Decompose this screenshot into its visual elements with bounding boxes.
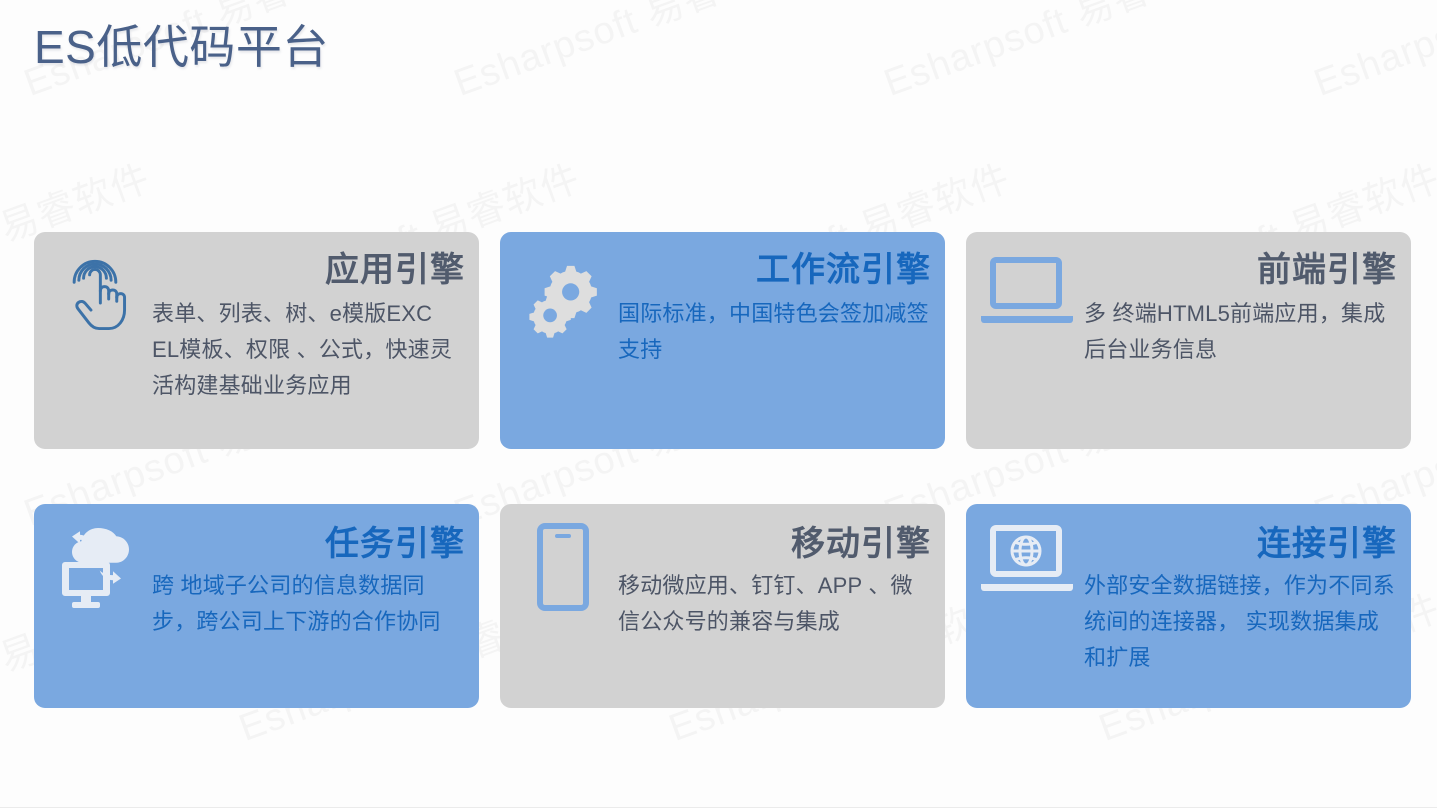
card-title: 连接引擎 (1084, 522, 1397, 566)
card-application-engine[interactable]: 应用引擎 表单、列表、树、e模版EXC EL模板、权限 、公式，快速灵 活构建基… (34, 232, 479, 449)
watermark-text: Esharpsoft 易睿软件 (1305, 0, 1437, 107)
touch-tap-hand-icon (34, 232, 152, 340)
card-description: 移动微应用、钉钉、APP 、微信公众号的兼容与集成 (618, 568, 931, 640)
card-connection-engine[interactable]: 连接引擎 外部安全数据链接，作为不同系统间的连接器， 实现数据集成和扩展 (966, 504, 1411, 708)
watermark-text: Esharpsoft 易睿软件 (875, 792, 1231, 808)
smartphone-icon (500, 504, 618, 612)
gears-icon (500, 232, 618, 340)
cloud-sync-monitor-icon (34, 504, 152, 610)
card-body: 任务引擎 跨 地域子公司的信息数据同步，跨公司上下游的合作协同 (152, 504, 479, 640)
card-task-engine[interactable]: 任务引擎 跨 地域子公司的信息数据同步，跨公司上下游的合作协同 (34, 504, 479, 708)
card-title: 应用引擎 (152, 246, 465, 294)
slide-canvas: Esharpsoft 易睿软件Esharpsoft 易睿软件Esharpsoft… (0, 0, 1437, 808)
card-workflow-engine[interactable]: 工作流引擎 国际标准，中国特色会签加减签支持 (500, 232, 945, 449)
card-body: 连接引擎 外部安全数据链接，作为不同系统间的连接器， 实现数据集成和扩展 (1084, 504, 1411, 676)
laptop-icon (966, 232, 1084, 330)
card-description: 多 终端HTML5前端应用，集成后台业务信息 (1084, 296, 1397, 368)
card-title: 前端引擎 (1084, 246, 1397, 294)
page-title: ES低代码平台 (34, 17, 329, 77)
card-description: 表单、列表、树、e模版EXC EL模板、权限 、公式，快速灵 活构建基础业务应用 (152, 296, 465, 404)
card-description: 外部安全数据链接，作为不同系统间的连接器， 实现数据集成和扩展 (1084, 568, 1397, 676)
watermark-text: Esharpsoft 易睿软件 (445, 792, 801, 808)
watermark-text: Esharpsoft 易睿软件 (875, 0, 1231, 107)
card-body: 移动引擎 移动微应用、钉钉、APP 、微信公众号的兼容与集成 (618, 504, 945, 640)
card-body: 工作流引擎 国际标准，中国特色会签加减签支持 (618, 232, 945, 368)
watermark-text: Esharpsoft 易睿软件 (1305, 792, 1437, 808)
laptop-globe-icon (966, 504, 1084, 598)
card-description: 跨 地域子公司的信息数据同步，跨公司上下游的合作协同 (152, 568, 465, 640)
watermark-text: Esharpsoft 易睿软件 (445, 0, 801, 107)
card-frontend-engine[interactable]: 前端引擎 多 终端HTML5前端应用，集成后台业务信息 (966, 232, 1411, 449)
feature-card-grid: 应用引擎 表单、列表、树、e模版EXC EL模板、权限 、公式，快速灵 活构建基… (34, 232, 1405, 708)
card-body: 前端引擎 多 终端HTML5前端应用，集成后台业务信息 (1084, 232, 1411, 368)
card-mobile-engine[interactable]: 移动引擎 移动微应用、钉钉、APP 、微信公众号的兼容与集成 (500, 504, 945, 708)
card-body: 应用引擎 表单、列表、树、e模版EXC EL模板、权限 、公式，快速灵 活构建基… (152, 232, 479, 404)
card-title: 移动引擎 (618, 522, 931, 566)
watermark-text: Esharpsoft 易睿软件 (15, 792, 371, 808)
card-title: 任务引擎 (152, 522, 465, 566)
card-description: 国际标准，中国特色会签加减签支持 (618, 296, 931, 368)
card-title: 工作流引擎 (618, 246, 931, 294)
